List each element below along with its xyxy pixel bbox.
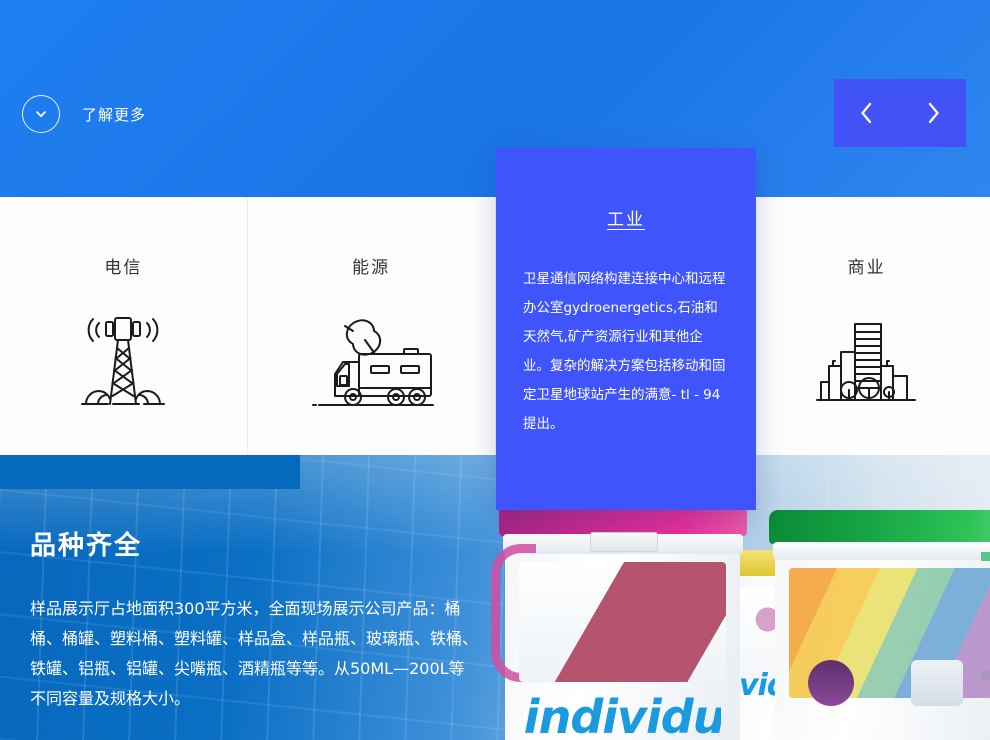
active-card-description: 卫星通信网络构建连接中心和远程办公室gydroenergetics,石油和天然气… [523,265,729,439]
chevron-down-circle-icon[interactable] [22,95,60,133]
product-variety-section: vidu individu [0,455,990,740]
carousel-prev-button[interactable] [847,79,887,147]
card-title: 电信 [104,253,142,278]
card-title: 商业 [848,253,886,278]
industry-card-strip: 电信 [0,197,990,455]
bucket-magenta: individu [505,500,740,740]
carousel-nav [834,79,966,147]
cell-tower-icon [68,300,178,420]
product-variety-title: 品种齐全 [30,525,480,562]
product-variety-text: 品种齐全 样品展示厅占地面积300平方米，全面现场展示公司产品：桶桶、桶罐、塑料… [30,525,480,714]
industry-card-energy[interactable]: 能源 [248,197,496,455]
learn-more-button[interactable]: 了解更多 [22,95,146,133]
carousel-next-button[interactable] [913,79,953,147]
active-card-title: 工业 [607,205,645,230]
bucket-art-detail [911,660,963,706]
hero-banner: 了解更多 [0,0,990,197]
bucket-green [775,510,990,740]
card-title: 能源 [352,253,390,278]
bucket-art-detail [808,660,854,706]
satellite-truck-icon [301,300,441,420]
bucket-clasp [590,532,658,552]
chevron-right-icon [923,100,943,126]
chevron-left-icon [857,100,877,126]
product-variety-description: 样品展示厅占地面积300平方米，全面现场展示公司产品：桶桶、桶罐、塑料桶、塑料罐… [30,594,480,714]
industry-card-telecom[interactable]: 电信 [0,197,248,455]
industry-card-active-industry[interactable]: 工业 卫星通信网络构建连接中心和远程办公室gydroenergetics,石油和… [496,148,756,510]
learn-more-label: 了解更多 [82,104,146,125]
city-skyline-icon [807,300,927,420]
industry-card-commerce[interactable]: 商业 [743,197,990,455]
page-root: 了解更多 电信 [0,0,990,740]
